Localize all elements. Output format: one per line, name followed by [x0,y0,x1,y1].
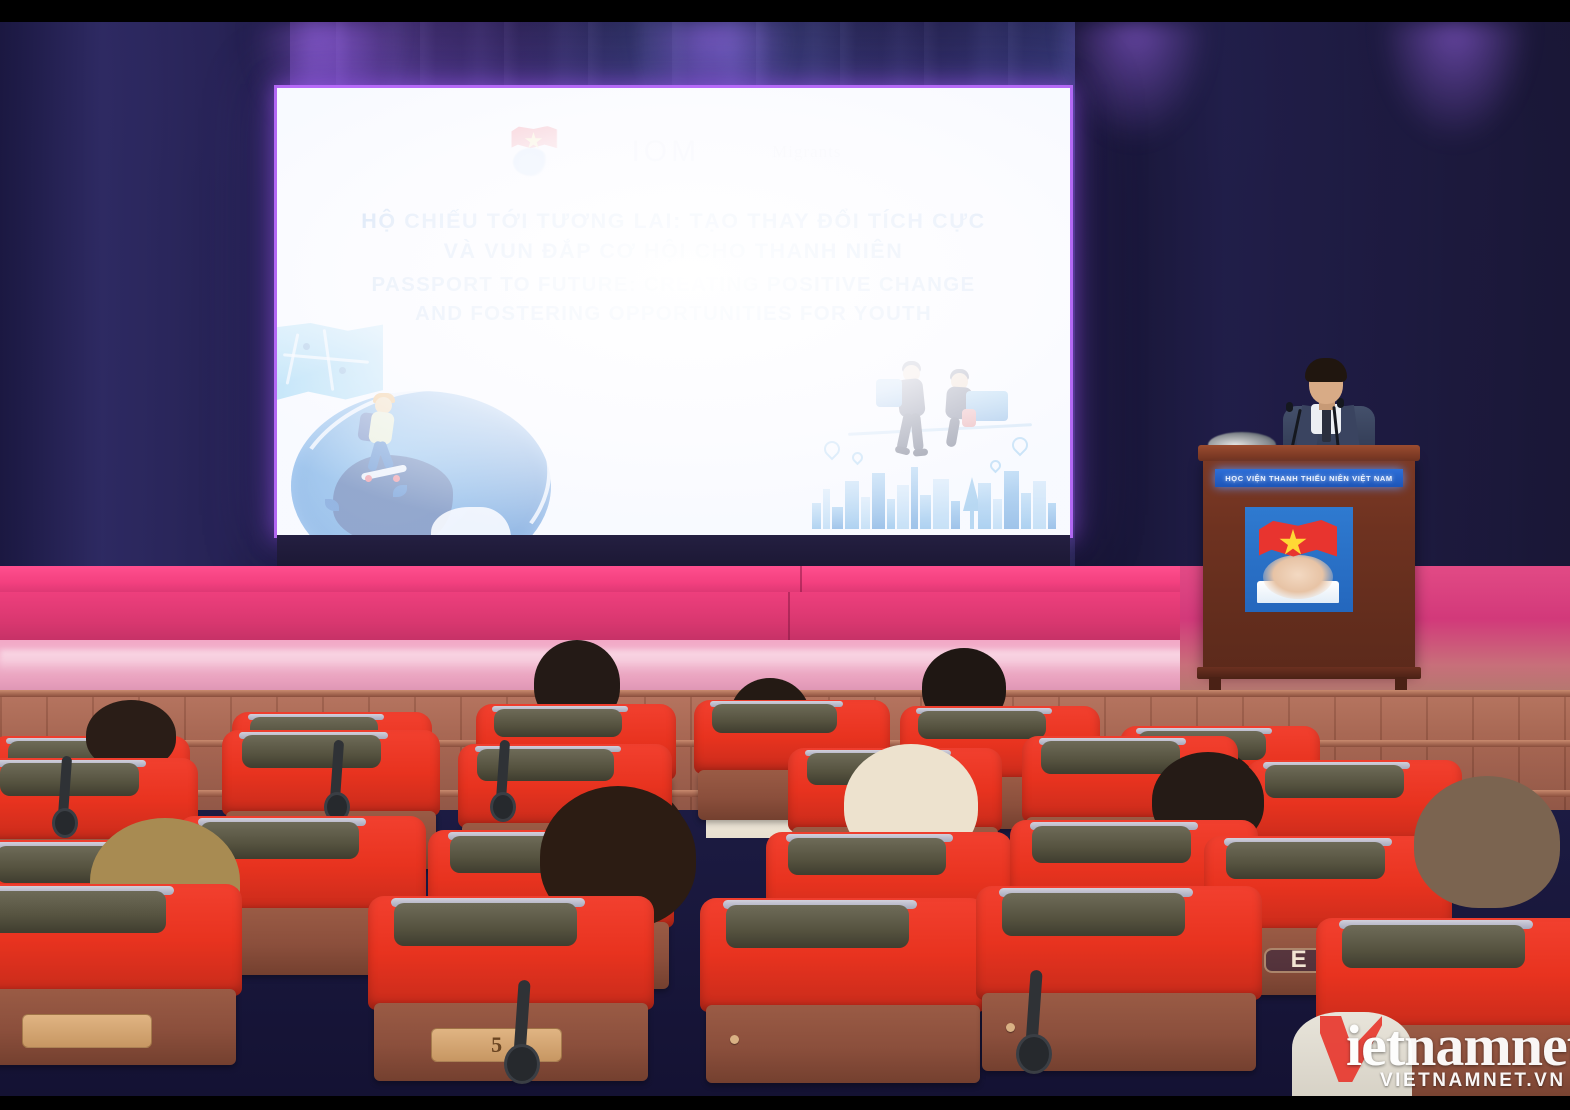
riser-seam-2 [788,592,790,644]
vietnamnet-watermark: ietnamnet VIETNAMNET.VN [1320,1008,1548,1094]
stage-riser-lower [0,592,1210,644]
stage-light-3 [1060,22,1210,142]
podium-emblem [1245,507,1353,612]
seat-row-d-1[interactable] [0,884,242,996]
youth-union-logo-icon [505,126,559,178]
stage-light-4 [1380,22,1530,142]
slide-title-vi-line1: HỘ CHIẾU TỚI TƯƠNG LAI: TẠO THAY ĐỔI TÍC… [277,206,1070,236]
microphone-head-right [1337,398,1344,408]
migrants-logo: Migrants [772,142,841,162]
seat-row-d-4[interactable] [976,886,1262,1000]
slide-title-vietnamese: HỘ CHIẾU TỚI TƯƠNG LAI: TẠO THAY ĐỔI TÍC… [277,206,1070,266]
city-skyline [812,449,1062,529]
seat-row-d-3[interactable] [700,898,986,1012]
slide-title-en-line1: PASSPORT TO FUTURE: CREATING POSITIVE CH… [277,270,1070,299]
led-presentation-screen: IOM Migrants HỘ CHIẾU TỚI TƯƠNG LAI: TẠO… [277,88,1070,535]
slide-title-vi-line2: VÀ VUN ĐẮP CƠ HỘI CHO THANH NIÊN [277,236,1070,266]
watermark-domain: VIETNAMNET.VN [1380,1070,1566,1092]
podium-top-ledge [1198,445,1420,461]
traveler-figure [359,397,405,483]
iom-logo: IOM [631,135,700,169]
curtain-left [0,22,290,642]
map-icon [277,323,383,401]
watermark-brand: ietnamnet [1346,1012,1570,1079]
conference-hall-photo: IOM Migrants HỘ CHIẾU TỚI TƯƠNG LAI: TẠO… [0,0,1570,1110]
illustration-travelers-city [812,345,1062,535]
podium: HỌC VIỆN THANH THIẾU NIÊN VIỆT NAM [1203,455,1415,670]
stage-floor-reflection [0,650,1240,672]
microphone-head-left [1286,402,1293,412]
podium-banner: HỌC VIỆN THANH THIẾU NIÊN VIỆT NAM [1215,469,1403,487]
podium-base [1197,667,1421,679]
traveler-figure-a [888,361,948,457]
seat-number-plate-d2: 5 [431,1028,563,1062]
podium-leg-right [1395,677,1407,691]
seat-row-d-2[interactable]: 5 [368,896,654,1010]
slide-surface: IOM Migrants HỘ CHIẾU TỚI TƯƠNG LAI: TẠO… [277,88,1070,535]
slide-logo-row: IOM Migrants [277,126,1070,178]
podium-banner-text: HỌC VIỆN THANH THIẾU NIÊN VIỆT NAM [1225,474,1393,483]
seat-number-plate-d1 [22,1014,152,1048]
audience-head-row-d-3 [1414,776,1560,908]
letterbox-top [0,0,1570,22]
illustration-traveler-on-globe [281,315,581,535]
podium-leg-left [1209,677,1221,691]
letterbox-bottom [0,1096,1570,1110]
traveler-figure-b [940,369,1004,449]
